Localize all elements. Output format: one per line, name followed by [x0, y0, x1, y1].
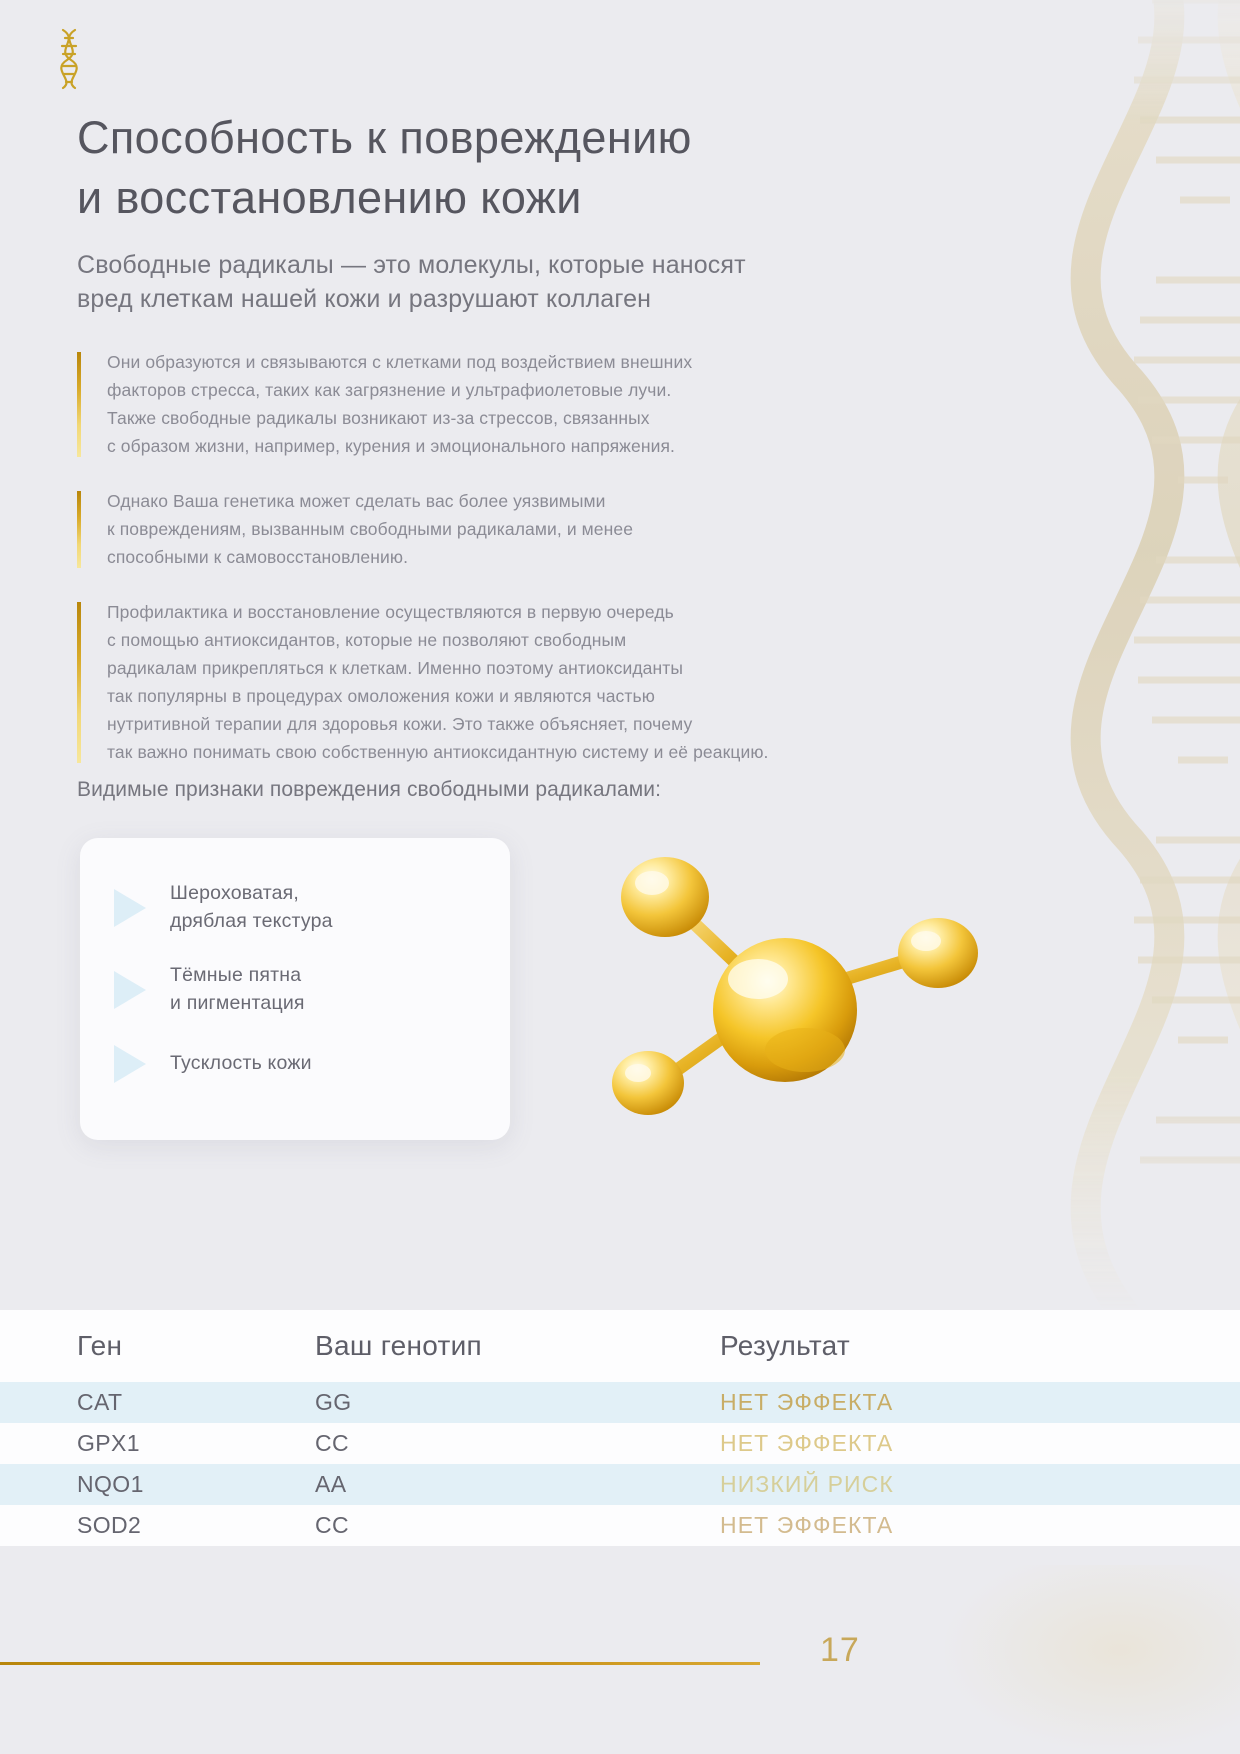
cell-genotype: CC [315, 1512, 720, 1539]
body-line: так популярны в процедурах омоложения ко… [107, 682, 947, 710]
page-subtitle-line-1: Свободные радикалы — это молекулы, котор… [77, 248, 957, 282]
page-number: 17 [820, 1631, 860, 1670]
table-header-row: Ген Ваш генотип Результат [0, 1310, 1240, 1382]
cell-genotype: AA [315, 1471, 720, 1498]
cell-result: НЕТ ЭФФЕКТА [720, 1512, 1240, 1539]
body-line: Также свободные радикалы возникают из-за… [107, 404, 947, 432]
cell-gene: SOD2 [0, 1512, 315, 1539]
cell-gene: NQO1 [0, 1471, 315, 1498]
visible-signs-card: Шероховатая, дряблая текстура Тёмные пят… [80, 838, 510, 1140]
column-header-result: Результат [720, 1330, 1240, 1362]
body-blocks: Они образуются и связываются с клетками … [77, 348, 947, 766]
genotype-results-table: Ген Ваш генотип Результат CAT GG НЕТ ЭФФ… [0, 1310, 1240, 1546]
sign-line: Тёмные пятна [170, 962, 305, 990]
column-header-gene: Ген [0, 1330, 315, 1362]
body-line: Профилактика и восстановление осуществля… [107, 598, 947, 626]
body-block: Они образуются и связываются с клетками … [77, 348, 947, 460]
body-line: факторов стресса, таких как загрязнение … [107, 376, 947, 404]
arrow-right-icon [114, 971, 146, 1009]
body-line: с помощью антиоксидантов, которые не поз… [107, 626, 947, 654]
table-row: NQO1 AA НИЗКИЙ РИСК [0, 1464, 1240, 1505]
sign-line: дряблая текстура [170, 908, 333, 936]
page-subtitle-line-2: вред клеткам нашей кожи и разрушают колл… [77, 282, 957, 316]
sign-item: Шероховатая, дряблая текстура [114, 880, 510, 935]
sign-line: Шероховатая, [170, 880, 333, 908]
body-line: Однако Ваша генетика может сделать вас б… [107, 487, 947, 515]
arrow-right-icon [114, 1045, 146, 1083]
gold-accent-bar [77, 491, 81, 568]
page-footer: 17 [0, 1565, 1240, 1754]
arrow-right-icon [114, 889, 146, 927]
body-block-text: Профилактика и восстановление осуществля… [107, 598, 947, 766]
sign-item: Тёмные пятна и пигментация [114, 962, 510, 1017]
sign-line: и пигментация [170, 990, 305, 1018]
page-title-line-2: и восстановлению кожи [77, 168, 977, 228]
cell-gene: CAT [0, 1389, 315, 1416]
cell-result: НЕТ ЭФФЕКТА [720, 1430, 1240, 1457]
body-line: способными к самовосстановлению. [107, 543, 947, 571]
cell-result: НЕТ ЭФФЕКТА [720, 1389, 1240, 1416]
body-line: радикалам прикрепляться к клеткам. Именн… [107, 654, 947, 682]
gold-accent-bar [77, 352, 81, 457]
cell-gene: GPX1 [0, 1430, 315, 1457]
page-title-line-1: Способность к повреждению [77, 108, 977, 168]
body-line: к повреждениям, вызванным свободными рад… [107, 515, 947, 543]
page-subtitle: Свободные радикалы — это молекулы, котор… [77, 248, 957, 316]
sign-item-label: Тёмные пятна и пигментация [170, 962, 305, 1017]
sign-item-label: Шероховатая, дряблая текстура [170, 880, 333, 935]
body-block-text: Они образуются и связываются с клетками … [107, 348, 947, 460]
signs-heading: Видимые признаки повреждения свободными … [77, 778, 977, 802]
table-row: CAT GG НЕТ ЭФФЕКТА [0, 1382, 1240, 1423]
table-row: GPX1 CC НЕТ ЭФФЕКТА [0, 1423, 1240, 1464]
dna-logo-icon [45, 28, 93, 90]
sign-line: Тусклость кожи [170, 1050, 312, 1078]
body-line: нутритивной терапии для здоровья кожи. Э… [107, 710, 947, 738]
sign-item: Тусклость кожи [114, 1045, 510, 1083]
molecule-illustration [560, 835, 1030, 1155]
body-block-text: Однако Ваша генетика может сделать вас б… [107, 487, 947, 571]
gold-molecule-graphic [560, 835, 1030, 1155]
body-line: Они образуются и связываются с клетками … [107, 348, 947, 376]
body-block: Однако Ваша генетика может сделать вас б… [77, 487, 947, 571]
dna-logo-glyph [45, 28, 93, 90]
cell-genotype: CC [315, 1430, 720, 1457]
body-line: так важно понимать свою собственную анти… [107, 738, 947, 766]
table-row: SOD2 CC НЕТ ЭФФЕКТА [0, 1505, 1240, 1546]
footer-decorative-blob [940, 1565, 1240, 1754]
body-block: Профилактика и восстановление осуществля… [77, 598, 947, 766]
cell-genotype: GG [315, 1389, 720, 1416]
body-line: с образом жизни, например, курения и эмо… [107, 432, 947, 460]
gold-accent-bar [77, 602, 81, 763]
column-header-genotype: Ваш генотип [315, 1330, 720, 1362]
sign-item-label: Тусклость кожи [170, 1050, 312, 1078]
footer-gold-rule [0, 1662, 760, 1665]
cell-result: НИЗКИЙ РИСК [720, 1471, 1240, 1498]
page-title: Способность к повреждению и восстановлен… [77, 108, 977, 229]
